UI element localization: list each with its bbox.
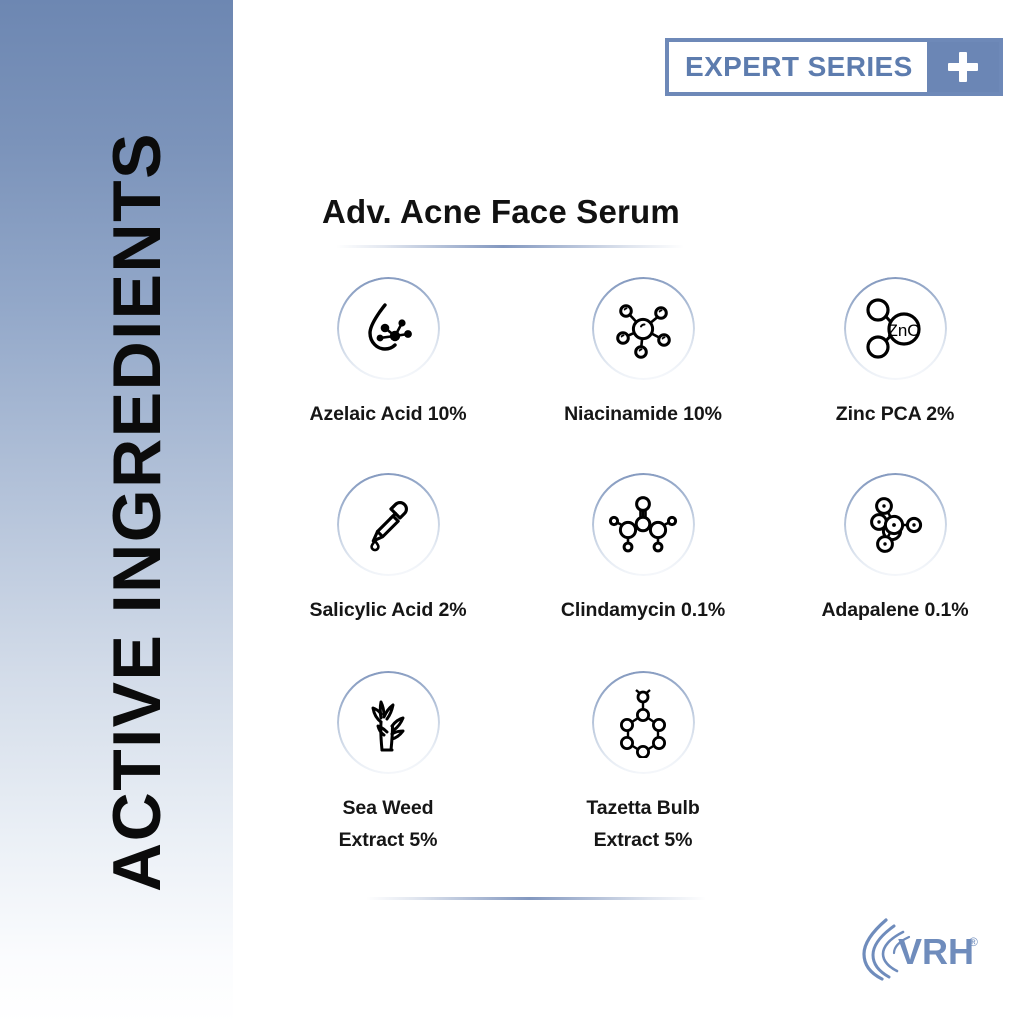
seaweed-coral-icon bbox=[337, 671, 440, 774]
zno-icon-text: ZnO bbox=[887, 321, 920, 340]
vrh-logo-trademark: ® bbox=[969, 935, 978, 949]
ingredient-item-sea-weed-extract: Sea Weed Extract 5% bbox=[268, 671, 508, 871]
ingredient-item-tazetta-bulb-extract: Tazetta Bulb Extract 5% bbox=[523, 671, 763, 871]
ingredient-label: Clindamycin 0.1% bbox=[561, 595, 725, 627]
ingredient-label: Tazetta Bulb Extract 5% bbox=[586, 793, 699, 856]
molecule-branched-icon bbox=[592, 473, 695, 576]
molecule-star-icon bbox=[592, 277, 695, 380]
ingredient-label: Sea Weed Extract 5% bbox=[339, 793, 438, 856]
zno-molecule-icon: ZnO bbox=[844, 277, 947, 380]
sidebar-banner: ACTIVE INGREDIENTS bbox=[0, 0, 233, 1024]
title-divider bbox=[336, 245, 684, 248]
expert-series-label: EXPERT SERIES bbox=[669, 42, 927, 92]
ingredient-row: Sea Weed Extract 5% bbox=[268, 671, 988, 871]
ingredient-item-azelaic-acid: Azelaic Acid 10% bbox=[268, 277, 508, 467]
ingredient-item-niacinamide: Niacinamide 10% bbox=[523, 277, 763, 467]
page-title: Adv. Acne Face Serum bbox=[322, 193, 680, 231]
bottom-divider bbox=[366, 897, 706, 900]
ingredient-item-zinc-pca: ZnO Zinc PCA 2% bbox=[775, 277, 1015, 467]
sidebar-title-wrapper: ACTIVE INGREDIENTS bbox=[0, 0, 233, 1024]
droplet-molecule-icon bbox=[337, 277, 440, 380]
ingredient-row: Salicylic Acid 2% bbox=[268, 473, 988, 663]
ingredient-row: Azelaic Acid 10% bbox=[268, 277, 988, 467]
ingredient-label: Azelaic Acid 10% bbox=[310, 399, 467, 431]
ingredient-label: Zinc PCA 2% bbox=[836, 399, 954, 431]
ingredient-item-adapalene: Adapalene 0.1% bbox=[775, 473, 1015, 663]
vrh-logo-text: VRH bbox=[898, 931, 974, 972]
molecule-cluster-icon bbox=[844, 473, 947, 576]
ingredient-label: Salicylic Acid 2% bbox=[310, 595, 467, 627]
ingredient-item-clindamycin: Clindamycin 0.1% bbox=[523, 473, 763, 663]
expert-series-badge: EXPERT SERIES bbox=[665, 38, 1003, 96]
ingredient-label: Adapalene 0.1% bbox=[821, 595, 968, 627]
vrh-logo: VRH ® bbox=[856, 916, 984, 982]
ingredient-item-salicylic-acid: Salicylic Acid 2% bbox=[268, 473, 508, 663]
ingredient-grid: Azelaic Acid 10% bbox=[268, 277, 988, 871]
molecule-ring-icon bbox=[592, 671, 695, 774]
poster-canvas: ACTIVE INGREDIENTS EXPERT SERIES Adv. Ac… bbox=[0, 0, 1024, 1024]
dropper-pipette-icon bbox=[337, 473, 440, 576]
plus-icon bbox=[948, 52, 978, 82]
badge-plus-block bbox=[927, 42, 999, 92]
ingredient-label: Niacinamide 10% bbox=[564, 399, 722, 431]
sidebar-title: ACTIVE INGREDIENTS bbox=[103, 132, 171, 892]
